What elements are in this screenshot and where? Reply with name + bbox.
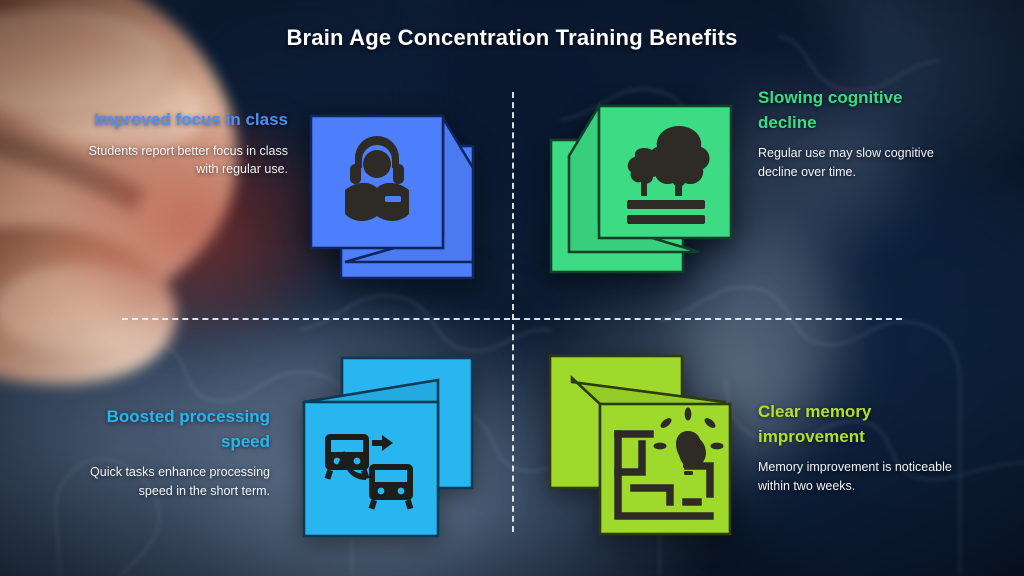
quadrant-heading: Boosted processing speed [78,405,270,454]
quadrant-heading: Clear memory improvement [758,400,953,449]
vertical-divider [512,92,514,532]
quadrant-text-clear-memory-improvement: Clear memory improvement Memory improvem… [758,400,953,495]
quadrant-text-improved-focus: Improved focus in class Students report … [88,108,288,179]
quadrant-heading: Slowing cognitive decline [758,86,948,135]
card-improved-focus[interactable] [293,98,493,298]
card-slowing-cognitive-decline[interactable] [543,92,743,292]
quadrant-text-boosted-processing-speed: Boosted processing speed Quick tasks enh… [78,405,270,500]
quadrant-text-slowing-cognitive-decline: Slowing cognitive decline Regular use ma… [758,86,948,181]
page-title: Brain Age Concentration Training Benefit… [0,25,1024,51]
quadrant-body: Students report better focus in class wi… [88,142,288,179]
quadrant-body: Regular use may slow cognitive decline o… [758,144,948,181]
quadrant-heading: Improved focus in class [88,108,288,133]
horizontal-divider [122,318,902,320]
card-clear-memory-improvement[interactable] [538,348,738,548]
quadrant-body: Quick tasks enhance processing speed in … [78,463,270,500]
card-boosted-processing-speed[interactable] [288,348,488,548]
quadrant-body: Memory improvement is noticeable within … [758,458,953,495]
